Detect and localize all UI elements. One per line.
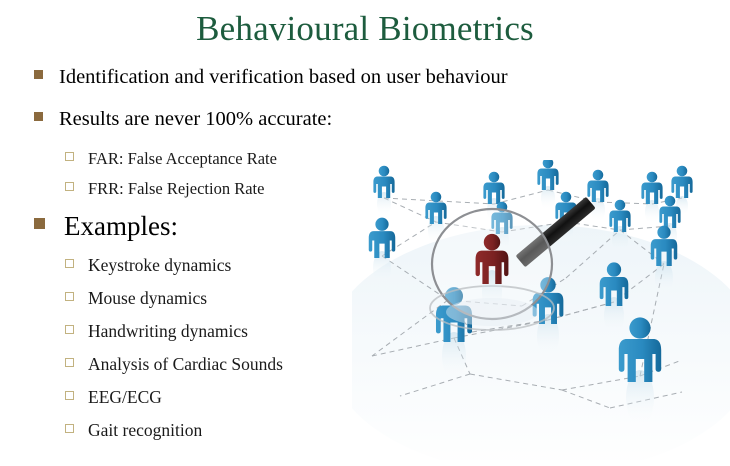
bullet-item: Identification and verification based on… xyxy=(34,62,654,92)
slide: Behavioural Biometrics Identification an… xyxy=(0,0,730,466)
list-item-label: FAR: False Acceptance Rate xyxy=(88,146,277,171)
hollow-square-bullet-icon xyxy=(65,358,74,367)
hollow-square-bullet-icon xyxy=(65,292,74,301)
illustration-svg xyxy=(352,160,730,460)
bullet-label: Results are never 100% accurate: xyxy=(59,104,332,134)
list-item-label: FRR: False Rejection Rate xyxy=(88,176,264,201)
list-item-label: Gait recognition xyxy=(88,416,202,444)
hollow-square-bullet-icon xyxy=(65,259,74,268)
filled-square-bullet-icon xyxy=(34,218,45,229)
bullet-item: Results are never 100% accurate: xyxy=(34,104,654,134)
network-of-people-illustration xyxy=(352,160,730,460)
bullet-label: Identification and verification based on… xyxy=(59,62,508,92)
hollow-square-bullet-icon xyxy=(65,152,74,161)
list-item-label: Handwriting dynamics xyxy=(88,317,248,345)
list-item-label: Analysis of Cardiac Sounds xyxy=(88,350,283,378)
list-item-label: EEG/ECG xyxy=(88,383,162,411)
page-title: Behavioural Biometrics xyxy=(0,8,730,50)
filled-square-bullet-icon xyxy=(34,112,43,121)
filled-square-bullet-icon xyxy=(34,70,43,79)
hollow-square-bullet-icon xyxy=(65,424,74,433)
hollow-square-bullet-icon xyxy=(65,391,74,400)
list-item-label: Mouse dynamics xyxy=(88,284,207,312)
hollow-square-bullet-icon xyxy=(65,325,74,334)
examples-heading-label: Examples: xyxy=(64,207,178,245)
list-item-label: Keystroke dynamics xyxy=(88,251,231,279)
hollow-square-bullet-icon xyxy=(65,182,74,191)
